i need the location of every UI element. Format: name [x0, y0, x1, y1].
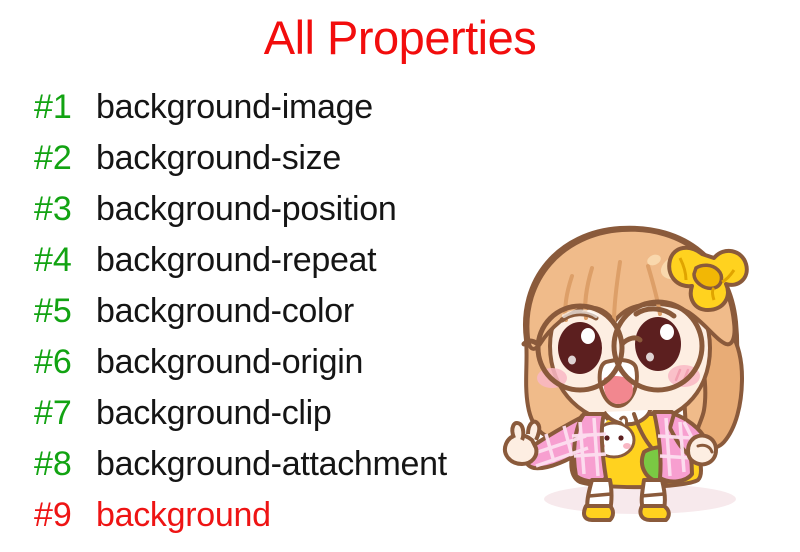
eye-left-highlight-small	[568, 356, 576, 365]
finger-left-1	[512, 423, 523, 440]
property-marker: #3	[34, 184, 96, 235]
property-marker: #2	[34, 133, 96, 184]
list-item: #6background-origin	[34, 337, 554, 388]
list-item: #2background-size	[34, 133, 554, 184]
eye-right-highlight	[660, 324, 674, 340]
property-name: background-position	[96, 184, 397, 235]
property-marker: #8	[34, 439, 96, 490]
eye-left-highlight	[581, 328, 595, 344]
list-item: #7background-clip	[34, 388, 554, 439]
property-marker: #9	[34, 490, 96, 541]
list-item: #3background-position	[34, 184, 554, 235]
shoe-left	[584, 506, 613, 520]
property-name: background-image	[96, 82, 373, 133]
property-marker: #5	[34, 286, 96, 337]
property-name: background-clip	[96, 388, 332, 439]
shoe-right	[640, 506, 668, 520]
list-item-highlighted: #9background	[34, 490, 554, 541]
sock-left-band	[589, 494, 611, 496]
property-name: background-repeat	[96, 235, 376, 286]
property-marker: #7	[34, 388, 96, 439]
eye-right	[635, 317, 681, 371]
list-item: #1background-image	[34, 82, 554, 133]
list-item: #4background-repeat	[34, 235, 554, 286]
property-marker: #1	[34, 82, 96, 133]
property-list: #1background-image #2background-size #3b…	[34, 82, 554, 541]
property-marker: #6	[34, 337, 96, 388]
sock-right-band	[641, 494, 664, 496]
slide-canvas: All Properties #1background-image #2back…	[0, 0, 800, 552]
property-name: background-size	[96, 133, 341, 184]
chibi-girl-illustration	[488, 218, 788, 528]
eye-left	[558, 322, 602, 374]
property-name: background-attachment	[96, 439, 447, 490]
property-name: background-color	[96, 286, 354, 337]
property-name: background	[96, 490, 271, 541]
eye-right-highlight-small	[646, 353, 654, 362]
list-item: #5background-color	[34, 286, 554, 337]
property-marker: #4	[34, 235, 96, 286]
property-name: background-origin	[96, 337, 363, 388]
list-item: #8background-attachment	[34, 439, 554, 490]
page-title: All Properties	[0, 12, 800, 64]
